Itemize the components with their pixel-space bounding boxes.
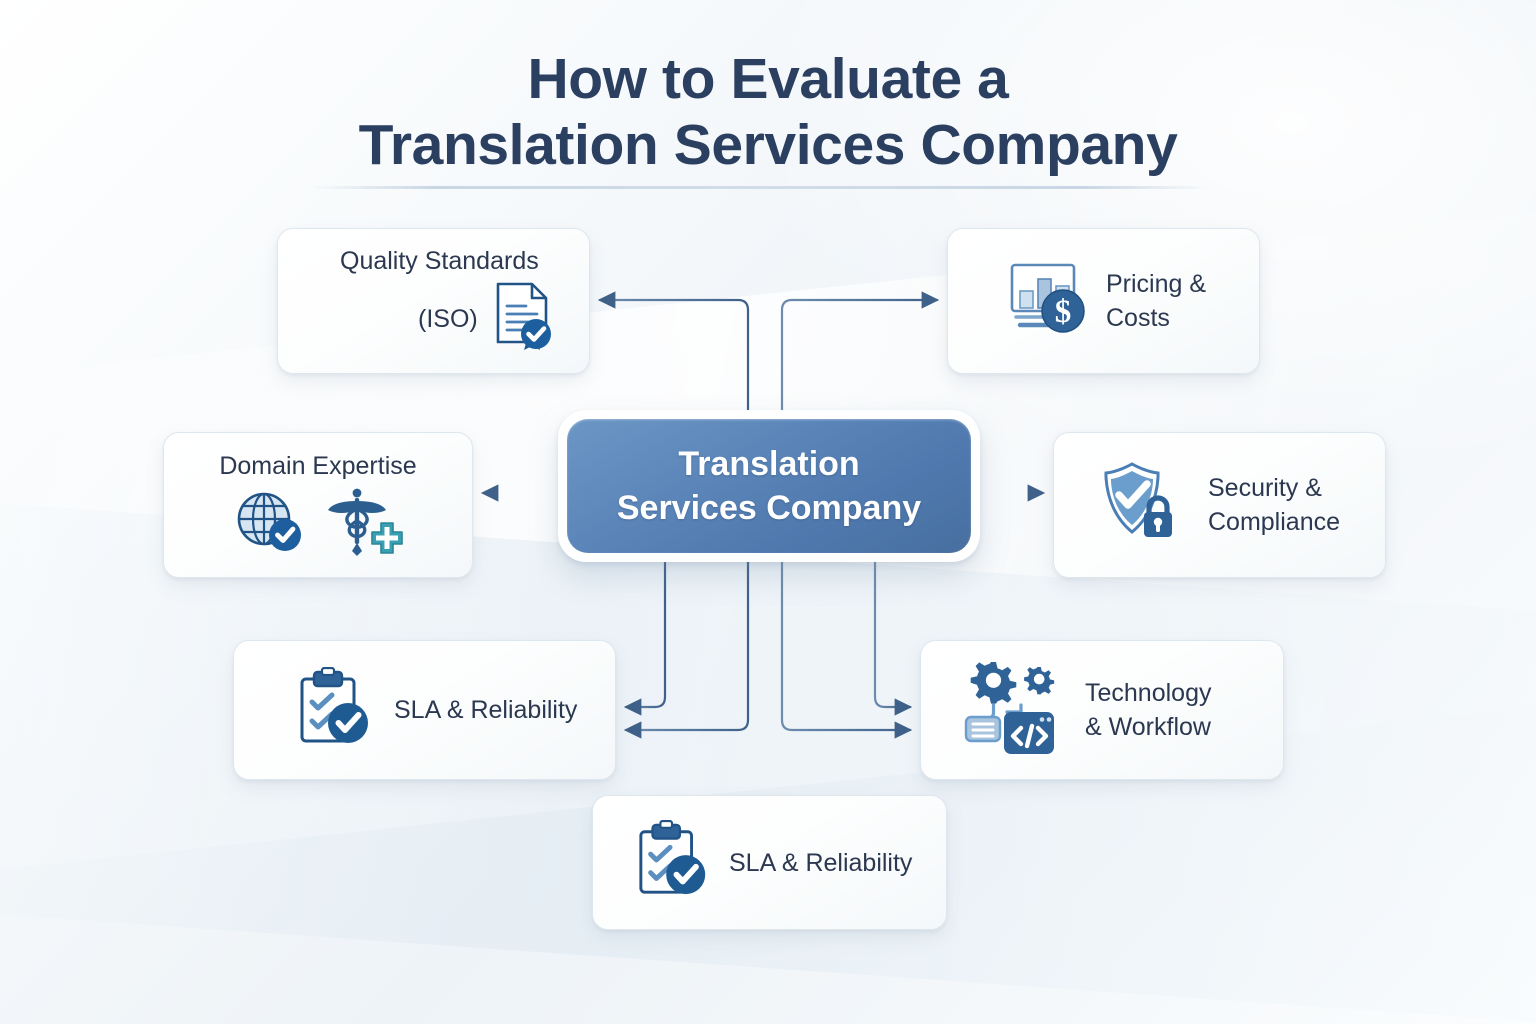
card-security-compliance[interactable]: Security & Compliance — [1053, 432, 1386, 578]
card-pricing-label: Pricing & Costs — [1106, 267, 1206, 335]
card-sla-left-label: SLA & Reliability — [394, 693, 577, 727]
card-pricing-costs[interactable]: $ Pricing & Costs — [947, 228, 1260, 374]
svg-text:$: $ — [1055, 294, 1072, 330]
clipboard-check-badge-icon — [296, 667, 376, 754]
center-node-line-2: Services Company — [617, 486, 921, 530]
center-node-line-1: Translation — [678, 442, 859, 486]
card-sla-bottom-label: SLA & Reliability — [729, 846, 912, 880]
title-divider — [310, 186, 1210, 189]
card-quality-label-line-1: Quality Standards — [340, 244, 539, 278]
card-sla-reliability-left[interactable]: SLA & Reliability — [233, 640, 616, 780]
connector-center-to-tech-lower — [782, 562, 910, 730]
card-sla-reliability-bottom[interactable]: SLA & Reliability — [592, 795, 947, 930]
center-node-translation-services-company[interactable]: Translation Services Company — [558, 410, 980, 562]
shield-check-padlock-icon — [1096, 457, 1192, 554]
card-domain-label: Domain Expertise — [219, 449, 416, 483]
title-line-2: Translation Services Company — [0, 112, 1536, 178]
infographic-canvas: How to Evaluate a Translation Services C… — [0, 0, 1536, 1024]
clipboard-check-badge-icon — [635, 820, 713, 905]
bar-chart-dollar-icon: $ — [1006, 259, 1090, 344]
card-quality-label-line-2: (ISO) — [418, 302, 478, 336]
background-sheen-lower — [0, 499, 1536, 1024]
caduceus-medical-cross-icon — [326, 487, 404, 562]
card-tech-label: Technology & Workflow — [1085, 676, 1211, 744]
connector-center-to-tech-upper — [875, 562, 910, 707]
connector-center-to-sla-left-lower — [626, 562, 748, 730]
connector-center-to-quality — [600, 300, 748, 410]
connector-center-to-pricing — [782, 300, 937, 410]
gears-database-code-icon — [963, 659, 1067, 762]
card-security-label: Security & Compliance — [1208, 471, 1340, 539]
card-quality-standards[interactable]: Quality Standards (ISO) — [277, 228, 590, 374]
title-line-1: How to Evaluate a — [0, 46, 1536, 112]
connector-center-to-sla-left-upper — [626, 562, 665, 707]
page-title: How to Evaluate a Translation Services C… — [0, 46, 1536, 178]
center-node-face: Translation Services Company — [567, 419, 971, 553]
card-domain-expertise[interactable]: Domain Expertise — [163, 432, 473, 578]
globe-check-icon — [232, 489, 308, 560]
document-certificate-icon — [490, 280, 556, 359]
card-technology-workflow[interactable]: Technology & Workflow — [920, 640, 1284, 780]
